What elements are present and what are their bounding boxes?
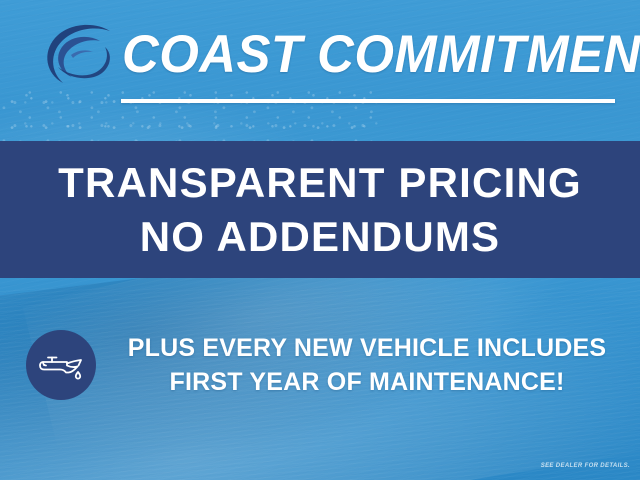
headline-line-2: NO ADDENDUMS [140,210,501,264]
promo-section: PLUS EVERY NEW VEHICLE INCLUDES FIRST YE… [0,322,640,408]
promo-text-block: PLUS EVERY NEW VEHICLE INCLUDES FIRST YE… [112,322,622,408]
header-divider [121,99,615,103]
oil-can-icon [26,330,96,400]
banner-header: COAST COMMITMENT [0,0,640,141]
coast-commitment-banner: COAST COMMITMENT TRANSPARENT PRICING NO … [0,0,640,480]
headline-line-1: TRANSPARENT PRICING [58,156,582,210]
disclaimer-text: SEE DEALER FOR DETAILS. [541,463,630,469]
promo-line-1: PLUS EVERY NEW VEHICLE INCLUDES [128,331,607,365]
page-title: COAST COMMITMENT [122,22,602,86]
promo-line-2: FIRST YEAR OF MAINTENANCE! [169,365,564,399]
coast-wave-swoosh-logo-icon [38,19,116,93]
headline-band: TRANSPARENT PRICING NO ADDENDUMS [0,141,640,278]
